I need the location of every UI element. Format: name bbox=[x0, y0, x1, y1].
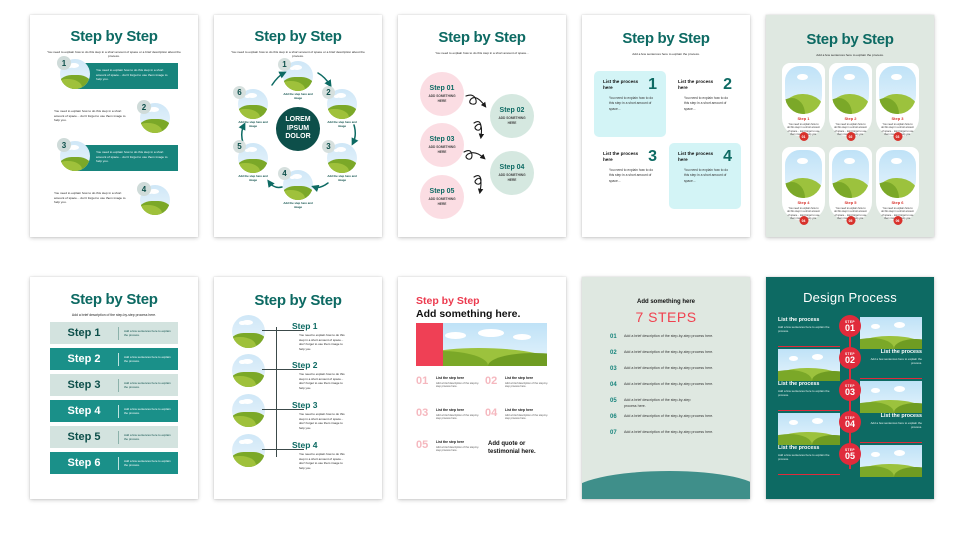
process-image-4 bbox=[778, 413, 840, 445]
cycle-caption-1: Add the step here and image bbox=[283, 93, 313, 101]
step-row-4[interactable]: 04 Add a brief description of the step-b… bbox=[610, 382, 728, 388]
step-card-image-3 bbox=[879, 66, 916, 114]
step-card-label-6: Step 6 bbox=[879, 200, 916, 205]
badge-number-4: 04 bbox=[845, 420, 855, 429]
cycle-number-5: 5 bbox=[233, 140, 246, 153]
process-heading-1: List the process bbox=[778, 317, 840, 323]
cycle-node-3[interactable]: 3 Add the step here and image bbox=[327, 143, 357, 183]
process-body-1: Add a few sentences here to explain the … bbox=[778, 325, 840, 334]
process-number-4: 4 bbox=[723, 149, 732, 165]
quote-placeholder[interactable]: Add quote or testimonial here. bbox=[488, 440, 538, 457]
process-text-3[interactable]: List the process Add a few sentences her… bbox=[778, 381, 840, 397]
step-circle-label-5: Step 05 bbox=[430, 188, 455, 195]
step-number-5: 05 bbox=[610, 398, 624, 410]
step-card-6[interactable]: Step 6 You need to explain how to do thi… bbox=[876, 147, 919, 220]
step-card-badge-6: 06 bbox=[893, 216, 902, 225]
step-row-6[interactable]: 06 Add a brief description of the step-b… bbox=[610, 414, 728, 420]
process-heading-4: List the process here bbox=[678, 151, 722, 163]
step-card-badge-4: 04 bbox=[799, 216, 808, 225]
step-bar-name-3: Step 3 bbox=[50, 379, 118, 391]
timeline-image-3 bbox=[232, 394, 265, 427]
step-heading-5: List the step here bbox=[436, 440, 482, 444]
step-bar-divider-3 bbox=[118, 379, 119, 392]
step-card-badge-3: 03 bbox=[893, 132, 902, 141]
step-card-4[interactable]: Step 4 You need to explain how to do thi… bbox=[782, 147, 825, 220]
page-subtitle: You need to explain how to do this step … bbox=[230, 50, 366, 59]
step-text-6: Add a brief description of the step-by-s… bbox=[624, 414, 728, 420]
hero-accent-block bbox=[416, 323, 443, 366]
step-body-2: Add a brief description of the step-by-s… bbox=[505, 382, 551, 390]
step-item-5[interactable]: 05 List the step here Add a brief descri… bbox=[416, 440, 482, 453]
step-heading-1: List the step here bbox=[436, 376, 482, 380]
process-body-4: You need to explain how to do this step … bbox=[684, 168, 732, 183]
step-bar-3[interactable]: Step 3 Add a few sentences here to expla… bbox=[50, 374, 178, 396]
step-bar-5[interactable]: Step 5 Add a few sentences here to expla… bbox=[50, 426, 178, 448]
step-heading-3: List the step here bbox=[436, 408, 482, 412]
step-circle-label-1: Step 01 bbox=[430, 85, 455, 92]
step-row-3[interactable]: 03 Add a brief description of the step-b… bbox=[610, 366, 728, 372]
step-number-2: 2 bbox=[137, 100, 151, 114]
step-heading-2: List the step here bbox=[505, 376, 551, 380]
process-text-1[interactable]: List the process Add a few sentences her… bbox=[778, 317, 840, 333]
step-text-1: You need to explain how to do this step … bbox=[96, 68, 168, 82]
step-bar-divider-2 bbox=[118, 353, 119, 366]
step-number-2: 02 bbox=[610, 350, 624, 356]
step-card-image-6 bbox=[879, 150, 916, 198]
step-card-5[interactable]: Step 5 You need to explain how to do thi… bbox=[829, 147, 872, 220]
step-body-4: Add a brief description of the step-by-s… bbox=[505, 414, 551, 422]
badge-number-5: 05 bbox=[845, 452, 855, 461]
process-badge-2[interactable]: STEP 02 bbox=[839, 347, 861, 369]
process-box-1[interactable]: List the process here 1 You need to expl… bbox=[594, 71, 666, 137]
step-bar-text-1: Add a few sentences here to explain the … bbox=[124, 329, 174, 338]
step-number-6: 06 bbox=[610, 414, 624, 420]
process-badge-3[interactable]: STEP 03 bbox=[839, 379, 861, 401]
hero-image bbox=[416, 323, 547, 366]
process-number-2: 2 bbox=[723, 77, 732, 93]
badge-number-2: 02 bbox=[845, 356, 855, 365]
process-heading-4: List the process bbox=[860, 413, 922, 419]
process-image-1 bbox=[860, 317, 922, 349]
process-text-5[interactable]: List the process Add a few sentences her… bbox=[778, 445, 840, 461]
process-number-1: 1 bbox=[648, 77, 657, 93]
process-heading-1: List the process here bbox=[603, 79, 647, 91]
step-bar-name-6: Step 6 bbox=[50, 457, 118, 469]
step-number-7: 07 bbox=[610, 430, 624, 436]
step-card-badge-1: 01 bbox=[799, 132, 808, 141]
cycle-number-4: 4 bbox=[278, 167, 291, 180]
template-page-5[interactable]: Step by Step Add a few sentences here to… bbox=[766, 15, 934, 237]
step-card-label-1: Step 1 bbox=[785, 116, 822, 121]
page-subtitle: You need to explain how to do this step … bbox=[414, 51, 550, 55]
cycle-caption-5: Add the step here and image bbox=[238, 175, 268, 183]
process-heading-2: List the process bbox=[860, 349, 922, 355]
step-circle-label-2: Step 02 bbox=[500, 107, 525, 114]
cycle-caption-4: Add the step here and image bbox=[283, 202, 313, 210]
process-image-5 bbox=[860, 445, 922, 477]
step-card-image-4 bbox=[785, 150, 822, 198]
timeline-body-2: You need to explain how to do this step … bbox=[299, 372, 347, 391]
cycle-number-6: 6 bbox=[233, 86, 246, 99]
page-title: Step by Step bbox=[416, 295, 566, 307]
step-bar-text-4: Add a few sentences here to explain the … bbox=[124, 407, 174, 416]
process-rule-4 bbox=[860, 442, 922, 443]
step-bar-text-5: Add a few sentences here to explain the … bbox=[124, 433, 174, 442]
step-card-badge-2: 02 bbox=[846, 132, 855, 141]
timeline-heading-3: Step 3 bbox=[292, 400, 318, 410]
cycle-caption-2: Add the step here and image bbox=[327, 121, 357, 129]
template-page-8[interactable]: Step by Step Add something here. 01 List… bbox=[398, 277, 566, 499]
timeline-image-2 bbox=[232, 354, 265, 387]
step-number-3: 3 bbox=[57, 138, 71, 152]
timeline-heading-2: Step 2 bbox=[292, 360, 318, 370]
step-card-label-5: Step 5 bbox=[832, 200, 869, 205]
step-number-5: 05 bbox=[416, 440, 428, 451]
page-title: Step by Step bbox=[766, 31, 934, 48]
step-text-4: Add a brief description of the step-by-s… bbox=[624, 382, 728, 388]
template-page-1[interactable]: Step by Step You need to explain how to … bbox=[30, 15, 198, 237]
template-page-10[interactable]: Design Process List the process Add a fe… bbox=[766, 277, 934, 499]
step-number-3: 03 bbox=[610, 366, 624, 372]
step-bar-name-4: Step 4 bbox=[50, 405, 118, 417]
step-number-4: 4 bbox=[137, 182, 151, 196]
step-bar-1[interactable]: Step 1 Add a few sentences here to expla… bbox=[50, 322, 178, 344]
process-image-3 bbox=[860, 381, 922, 413]
cycle-node-1[interactable]: 1 Add the step here and image bbox=[283, 61, 313, 101]
step-row-5[interactable]: 05 Add a brief description of the step-b… bbox=[610, 398, 702, 410]
step-bar-divider-4 bbox=[118, 405, 119, 418]
template-page-6[interactable]: Step by Step Add a brief description of … bbox=[30, 277, 198, 499]
step-row-7[interactable]: 07 Add a brief description of the step-b… bbox=[610, 430, 728, 436]
step-circle-3[interactable]: Step 03 ADD SOMETHING HERE bbox=[420, 123, 464, 167]
step-bar-4[interactable]: Step 4 Add a few sentences here to expla… bbox=[50, 400, 178, 422]
step-card-image-5 bbox=[832, 150, 869, 198]
step-text-2: Add a brief description of the step-by-s… bbox=[624, 350, 728, 356]
cycle-node-6[interactable]: 6 Add the step here and image bbox=[238, 89, 268, 129]
template-gallery: Step by Step You need to explain how to … bbox=[0, 0, 960, 540]
step-bar-name-5: Step 5 bbox=[50, 431, 118, 443]
process-body-4: Add a few sentences here to explain the … bbox=[860, 421, 922, 430]
step-card-label-2: Step 2 bbox=[832, 116, 869, 121]
cycle-number-1: 1 bbox=[278, 58, 291, 71]
process-rule-2 bbox=[860, 378, 922, 379]
page-title: Step by Step bbox=[214, 292, 382, 309]
template-page-7[interactable]: Step by Step Step 1 You need to explain … bbox=[214, 277, 382, 499]
step-text-3: Add a brief description of the step-by-s… bbox=[624, 366, 728, 372]
step-number-1: 01 bbox=[610, 334, 624, 340]
cycle-center-label: LOREMIPSUMDOLOR bbox=[276, 107, 320, 151]
step-row-2[interactable]: 02 Add a brief description of the step-b… bbox=[610, 350, 728, 356]
step-text-1: Add a brief description of the step-by-s… bbox=[624, 334, 728, 340]
step-circle-sub-3: ADD SOMETHING HERE bbox=[428, 145, 456, 154]
page-subtitle: Add a brief description of the step-by-s… bbox=[46, 313, 182, 318]
cycle-node-5[interactable]: 5 Add the step here and image bbox=[238, 143, 268, 183]
step-body-5: Add a brief description of the step-by-s… bbox=[436, 446, 482, 454]
cycle-caption-3: Add the step here and image bbox=[327, 175, 357, 183]
page-title: Step by Step bbox=[582, 30, 750, 47]
step-bar-6[interactable]: Step 6 Add a few sentences here to expla… bbox=[50, 452, 178, 474]
step-circle-sub-4: ADD SOMETHING HERE bbox=[498, 173, 526, 182]
step-item-4[interactable]: 04 List the step here Add a brief descri… bbox=[485, 408, 551, 421]
step-card-1[interactable]: Step 1 You need to explain how to do thi… bbox=[782, 63, 825, 136]
page-title: Design Process bbox=[766, 290, 934, 305]
step-number-1: 01 bbox=[416, 376, 428, 387]
timeline-spine bbox=[276, 327, 277, 457]
step-number-4: 04 bbox=[610, 382, 624, 388]
step-row-1[interactable]: 01 Add a brief description of the step-b… bbox=[610, 334, 728, 340]
cycle-node-4[interactable]: 4 Add the step here and image bbox=[283, 170, 313, 210]
process-heading-5: List the process bbox=[778, 445, 840, 451]
page-subtitle: Add a few sentences here to explain the … bbox=[598, 52, 734, 56]
process-image-2 bbox=[778, 349, 840, 381]
step-bar-divider-1 bbox=[118, 327, 119, 340]
step-circle-sub-2: ADD SOMETHING HERE bbox=[498, 116, 526, 125]
page-title: Step by Step bbox=[398, 29, 566, 46]
step-text-5: Add a brief description of the step-by-s… bbox=[624, 398, 702, 410]
cycle-number-2: 2 bbox=[322, 86, 335, 99]
step-circle-1[interactable]: Step 01 ADD SOMETHING HERE bbox=[420, 72, 464, 116]
template-page-3[interactable]: Step by Step You need to explain how to … bbox=[398, 15, 566, 237]
process-body-1: You need to explain how to do this step … bbox=[609, 96, 657, 111]
process-body-2: Add a few sentences here to explain the … bbox=[860, 357, 922, 366]
step-card-badge-5: 05 bbox=[846, 216, 855, 225]
process-box-4[interactable]: List the process here 4 You need to expl… bbox=[669, 143, 741, 209]
timeline-body-4: You need to explain how to do this step … bbox=[299, 452, 347, 471]
process-box-2[interactable]: List the process here 2 You need to expl… bbox=[669, 71, 741, 137]
step-bar-name-2: Step 2 bbox=[50, 353, 118, 365]
page-subtitle: Add something here. bbox=[416, 308, 566, 320]
process-rule-5 bbox=[778, 474, 840, 475]
timeline-image-4 bbox=[232, 434, 265, 467]
process-body-3: Add a few sentences here to explain the … bbox=[778, 389, 840, 398]
process-body-3: You need to explain how to do this step … bbox=[609, 168, 657, 183]
step-circle-sub-5: ADD SOMETHING HERE bbox=[428, 197, 456, 206]
process-rule-3 bbox=[778, 410, 840, 411]
cycle-caption-6: Add the step here and image bbox=[238, 121, 268, 129]
badge-number-1: 01 bbox=[845, 324, 855, 333]
process-body-5: Add a few sentences here to explain the … bbox=[778, 453, 840, 462]
step-card-label-3: Step 3 bbox=[879, 116, 916, 121]
step-number-1: 1 bbox=[57, 56, 71, 70]
step-text-4: You need to explain how to do this step … bbox=[54, 191, 126, 205]
page-subtitle: Add a few sentences here to explain the … bbox=[782, 53, 918, 57]
process-number-3: 3 bbox=[648, 149, 657, 165]
step-bar-2[interactable]: Step 2 Add a few sentences here to expla… bbox=[50, 348, 178, 370]
process-heading-3: List the process here bbox=[603, 151, 647, 163]
cycle-number-3: 3 bbox=[322, 140, 335, 153]
step-text-3: You need to explain how to do this step … bbox=[96, 150, 168, 164]
step-bar-name-1: Step 1 bbox=[50, 327, 118, 339]
step-bar-text-3: Add a few sentences here to explain the … bbox=[124, 381, 174, 390]
timeline-heading-4: Step 4 bbox=[292, 440, 318, 450]
step-text-2: You need to explain how to do this step … bbox=[54, 109, 126, 123]
step-item-1[interactable]: 01 List the step here Add a brief descri… bbox=[416, 376, 482, 389]
timeline-heading-1: Step 1 bbox=[292, 321, 318, 331]
step-body-3: Add a brief description of the step-by-s… bbox=[436, 414, 482, 422]
timeline-image-1 bbox=[232, 315, 265, 348]
timeline-body-1: You need to explain how to do this step … bbox=[299, 333, 347, 352]
cycle-node-2[interactable]: 2 Add the step here and image bbox=[327, 89, 357, 129]
step-card-image-2 bbox=[832, 66, 869, 114]
step-bar-divider-6 bbox=[118, 457, 119, 470]
process-text-4[interactable]: List the process Add a few sentences her… bbox=[860, 413, 922, 429]
process-badge-5[interactable]: STEP 05 bbox=[839, 443, 861, 465]
step-circle-5[interactable]: Step 05 ADD SOMETHING HERE bbox=[420, 175, 464, 219]
template-page-4[interactable]: Step by Step Add a few sentences here to… bbox=[582, 15, 750, 237]
timeline-body-3: You need to explain how to do this step … bbox=[299, 412, 347, 431]
process-heading-2: List the process here bbox=[678, 79, 722, 91]
process-body-2: You need to explain how to do this step … bbox=[684, 96, 732, 111]
step-number-3: 03 bbox=[416, 408, 428, 419]
step-circle-2[interactable]: Step 02 ADD SOMETHING HERE bbox=[490, 94, 534, 138]
step-heading-4: List the step here bbox=[505, 408, 551, 412]
process-box-3[interactable]: List the process here 3 You need to expl… bbox=[594, 143, 666, 209]
process-badge-4[interactable]: STEP 04 bbox=[839, 411, 861, 433]
step-number-4: 04 bbox=[485, 408, 497, 419]
process-rule-1 bbox=[778, 346, 840, 347]
step-bar-divider-5 bbox=[118, 431, 119, 444]
page-kicker: Add something here bbox=[582, 299, 750, 305]
step-card-3[interactable]: Step 3 You need to explain how to do thi… bbox=[876, 63, 919, 136]
step-circle-sub-1: ADD SOMETHING HERE bbox=[428, 94, 456, 103]
step-card-label-4: Step 4 bbox=[785, 200, 822, 205]
step-circle-4[interactable]: Step 04 ADD SOMETHING HERE bbox=[490, 151, 534, 195]
template-page-2[interactable]: Step by Step You need to explain how to … bbox=[214, 15, 382, 237]
process-text-2[interactable]: List the process Add a few sentences her… bbox=[860, 349, 922, 365]
process-heading-3: List the process bbox=[778, 381, 840, 387]
step-text-7: Add a brief description of the step-by-s… bbox=[624, 430, 728, 436]
step-circle-label-4: Step 04 bbox=[500, 164, 525, 171]
page-title: Step by Step bbox=[30, 28, 198, 45]
step-card-2[interactable]: Step 2 You need to explain how to do thi… bbox=[829, 63, 872, 136]
page-title: Step by Step bbox=[214, 28, 382, 45]
step-body-1: Add a brief description of the step-by-s… bbox=[436, 382, 482, 390]
step-item-3[interactable]: 03 List the step here Add a brief descri… bbox=[416, 408, 482, 421]
step-bar-text-2: Add a few sentences here to explain the … bbox=[124, 355, 174, 364]
step-bar-text-6: Add a few sentences here to explain the … bbox=[124, 459, 174, 468]
step-card-image-1 bbox=[785, 66, 822, 114]
badge-number-3: 03 bbox=[845, 388, 855, 397]
decorative-wave bbox=[582, 471, 750, 499]
page-title: Step by Step bbox=[30, 291, 198, 308]
step-item-2[interactable]: 02 List the step here Add a brief descri… bbox=[485, 376, 551, 389]
step-circle-label-3: Step 03 bbox=[430, 136, 455, 143]
process-badge-1[interactable]: STEP 01 bbox=[839, 315, 861, 337]
step-number-2: 02 bbox=[485, 376, 497, 387]
page-title: 7 STEPS bbox=[582, 309, 750, 325]
template-page-9[interactable]: Add something here 7 STEPS 01 Add a brie… bbox=[582, 277, 750, 499]
